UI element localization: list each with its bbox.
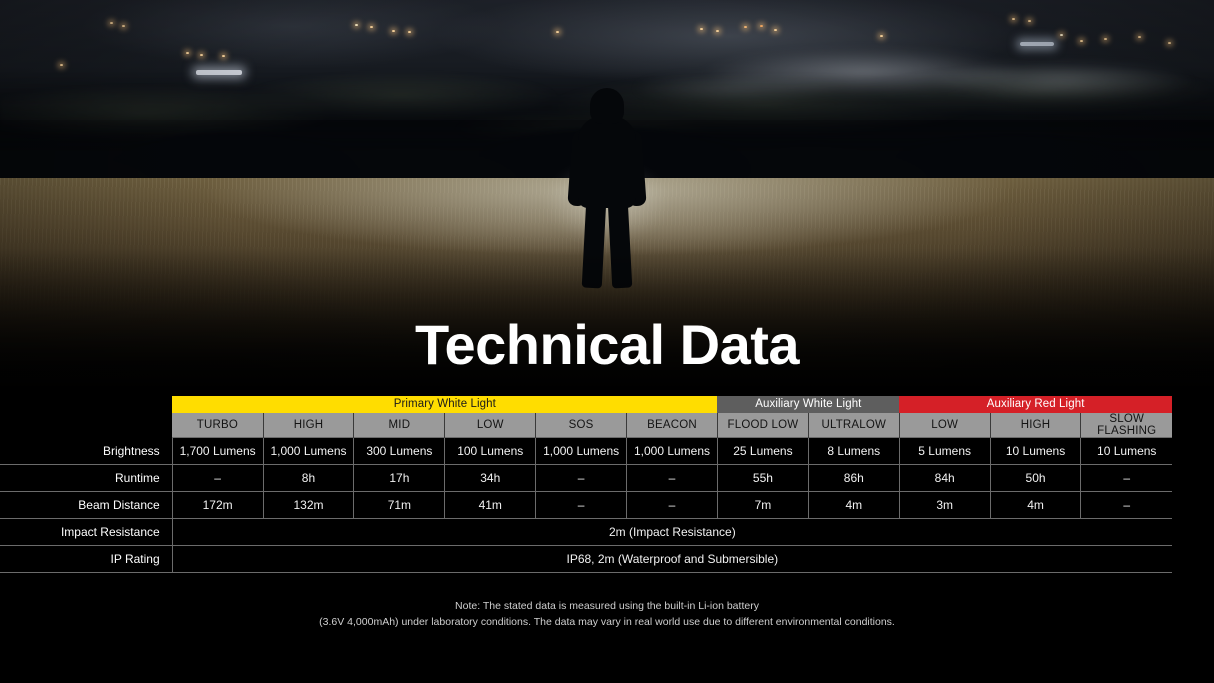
mode-red-low: LOW [899,413,990,438]
cell-brightness-turbo: 1,700 Lumens [172,438,263,465]
cell-brightness-mid: 300 Lumens [354,438,445,465]
cell-brightness-flood-low: 25 Lumens [717,438,808,465]
cell-impact-resistance-value: 2m (Impact Resistance) [172,519,1172,546]
cell-brightness-slow-flashing: 10 Lumens [1081,438,1172,465]
row-label-beam-distance: Beam Distance [0,492,172,519]
cell-brightness-red-high: 10 Lumens [990,438,1081,465]
group-label-auxiliary-red: Auxiliary Red Light [899,396,1172,413]
spec-table: Primary White Light Auxiliary White Ligh… [0,396,1172,573]
cell-beam-distance-ultralow: 4m [808,492,899,519]
cell-runtime-flood-low: 55h [717,465,808,492]
cell-brightness-red-low: 5 Lumens [899,438,990,465]
group-header-auxiliary-white: Auxiliary White Light [717,396,899,413]
table-row: IP Rating IP68, 2m (Waterproof and Subme… [0,546,1172,573]
group-label-auxiliary-white: Auxiliary White Light [717,396,899,413]
mode-ultralow: ULTRALOW [808,413,899,438]
mode-beacon: BEACON [627,413,718,438]
cell-runtime-red-high: 50h [990,465,1081,492]
mode-mid: MID [354,413,445,438]
cell-beam-distance-high: 132m [263,492,354,519]
cell-brightness-low: 100 Lumens [445,438,536,465]
group-label-primary-white: Primary White Light [172,396,717,413]
cell-beam-distance-flood-low: 7m [717,492,808,519]
footnote-line-2: (3.6V 4,000mAh) under laboratory conditi… [0,614,1214,630]
mode-red-high: HIGH [990,413,1081,438]
cell-runtime-mid: 17h [354,465,445,492]
table-row: Beam Distance 172m 132m 71m 41m – – 7m 4… [0,492,1172,519]
table-row: Impact Resistance 2m (Impact Resistance) [0,519,1172,546]
group-header-spacer [0,396,172,413]
cell-runtime-turbo: – [172,465,263,492]
group-header-primary-white: Primary White Light [172,396,717,413]
row-label-ip-rating: IP Rating [0,546,172,573]
cell-beam-distance-turbo: 172m [172,492,263,519]
cell-beam-distance-low: 41m [445,492,536,519]
cell-runtime-low: 34h [445,465,536,492]
row-label-runtime: Runtime [0,465,172,492]
technical-data-table: Primary White Light Auxiliary White Ligh… [0,396,1214,573]
cell-beam-distance-slow-flashing: – [1081,492,1172,519]
cell-runtime-high: 8h [263,465,354,492]
cell-beam-distance-red-high: 4m [990,492,1081,519]
page-title: Technical Data [0,312,1214,377]
cell-beam-distance-mid: 71m [354,492,445,519]
mode-header-spacer [0,413,172,438]
cell-beam-distance-beacon: – [627,492,718,519]
cell-runtime-red-low: 84h [899,465,990,492]
group-header-row: Primary White Light Auxiliary White Ligh… [0,396,1172,413]
cell-brightness-ultralow: 8 Lumens [808,438,899,465]
row-label-impact-resistance: Impact Resistance [0,519,172,546]
row-label-brightness: Brightness [0,438,172,465]
cell-ip-rating-value: IP68, 2m (Waterproof and Submersible) [172,546,1172,573]
cell-runtime-slow-flashing: – [1081,465,1172,492]
mode-slow-flashing: SLOW FLASHING [1081,413,1172,438]
footnote-line-1: Note: The stated data is measured using … [0,598,1214,614]
cell-runtime-ultralow: 86h [808,465,899,492]
cell-runtime-sos: – [536,465,627,492]
mode-flood-low: FLOOD LOW [717,413,808,438]
mode-sos: SOS [536,413,627,438]
cell-runtime-beacon: – [627,465,718,492]
mode-turbo: TURBO [172,413,263,438]
group-header-auxiliary-red: Auxiliary Red Light [899,396,1172,413]
mode-high: HIGH [263,413,354,438]
cell-brightness-high: 1,000 Lumens [263,438,354,465]
cell-brightness-beacon: 1,000 Lumens [627,438,718,465]
cell-beam-distance-red-low: 3m [899,492,990,519]
footnote: Note: The stated data is measured using … [0,598,1214,630]
mode-header-row: TURBO HIGH MID LOW SOS BEACON FLOOD LOW … [0,413,1172,438]
table-row: Runtime – 8h 17h 34h – – 55h 86h 84h 50h… [0,465,1172,492]
mode-low: LOW [445,413,536,438]
cell-beam-distance-sos: – [536,492,627,519]
table-row: Brightness 1,700 Lumens 1,000 Lumens 300… [0,438,1172,465]
cell-brightness-sos: 1,000 Lumens [536,438,627,465]
